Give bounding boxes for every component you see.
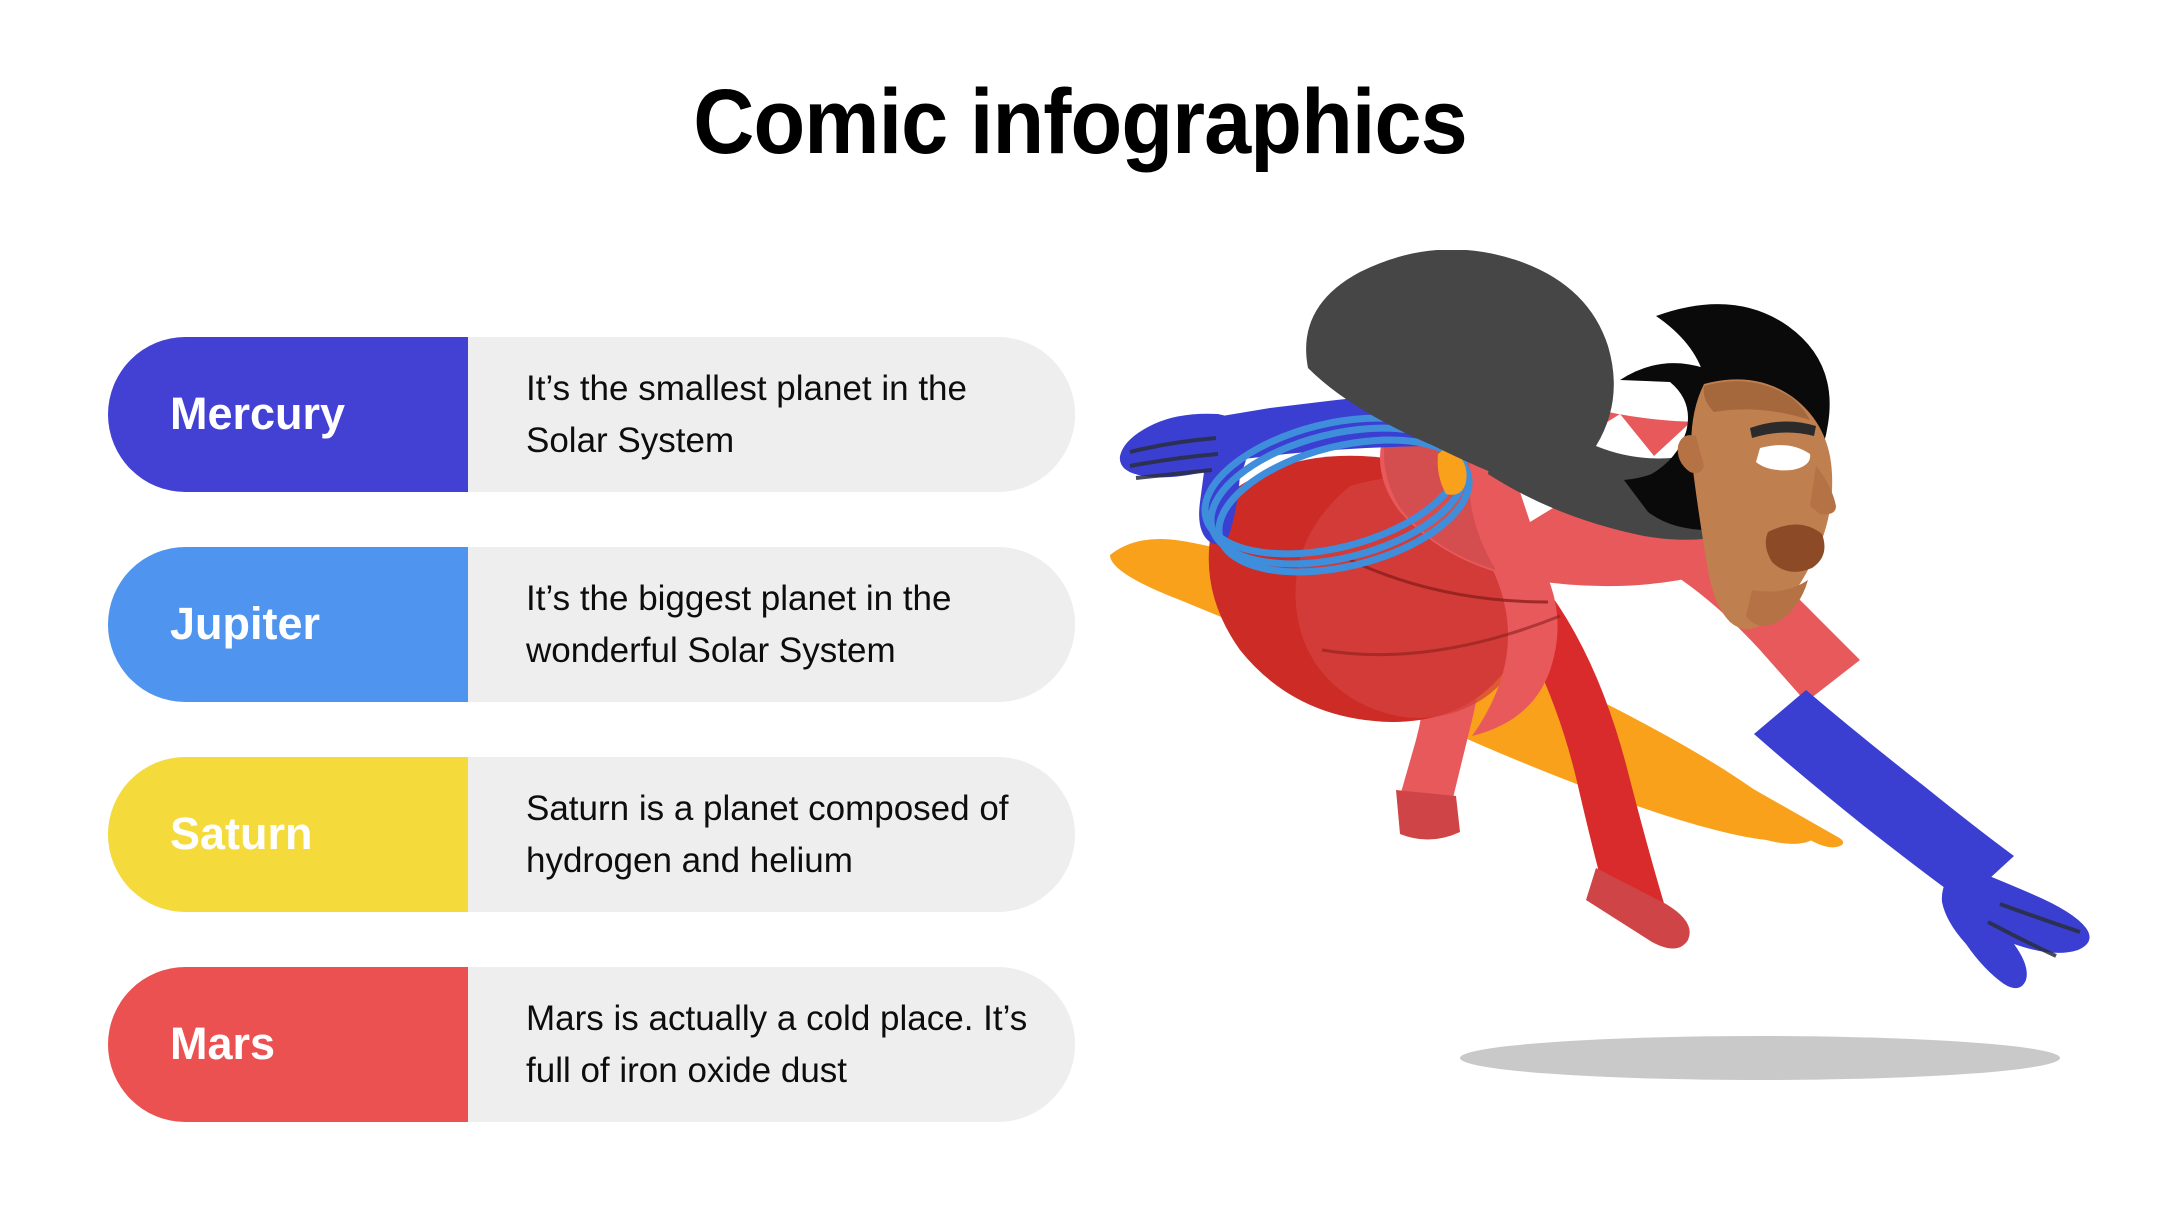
planet-description: Mars is actually a cold place. It’s full… [526, 993, 1035, 1097]
planet-name: Mars [170, 1018, 442, 1070]
planet-list: Mercury It’s the smallest planet in the … [108, 337, 1075, 1122]
planet-label-chip: Mercury [108, 337, 468, 492]
planet-description-panel: Mars is actually a cold place. It’s full… [468, 967, 1075, 1122]
planet-description-panel: It’s the smallest planet in the Solar Sy… [468, 337, 1075, 492]
planet-description: It’s the biggest planet in the wonderful… [526, 573, 1035, 677]
list-item[interactable]: Mercury It’s the smallest planet in the … [108, 337, 1075, 492]
planet-description: It’s the smallest planet in the Solar Sy… [526, 363, 1035, 467]
ground-shadow-icon [1460, 1036, 2060, 1080]
rear-foot [1396, 790, 1460, 840]
list-item[interactable]: Mars Mars is actually a cold place. It’s… [108, 967, 1075, 1122]
planet-label-chip: Jupiter [108, 547, 468, 702]
list-item[interactable]: Jupiter It’s the biggest planet in the w… [108, 547, 1075, 702]
planet-description: Saturn is a planet composed of hydrogen … [526, 783, 1035, 887]
planet-description-panel: Saturn is a planet composed of hydrogen … [468, 757, 1075, 912]
list-item[interactable]: Saturn Saturn is a planet composed of hy… [108, 757, 1075, 912]
slide: Comic infographics Mercury It’s the smal… [0, 0, 2160, 1215]
superhero-surfer-illustration [1100, 250, 2120, 1130]
planet-name: Saturn [170, 808, 442, 860]
front-arm-lower [1754, 690, 2014, 902]
planet-label-chip: Saturn [108, 757, 468, 912]
planet-description-panel: It’s the biggest planet in the wonderful… [468, 547, 1075, 702]
planet-name: Jupiter [170, 598, 442, 650]
planet-label-chip: Mars [108, 967, 468, 1122]
page-title: Comic infographics [86, 76, 2073, 168]
planet-name: Mercury [170, 388, 442, 440]
